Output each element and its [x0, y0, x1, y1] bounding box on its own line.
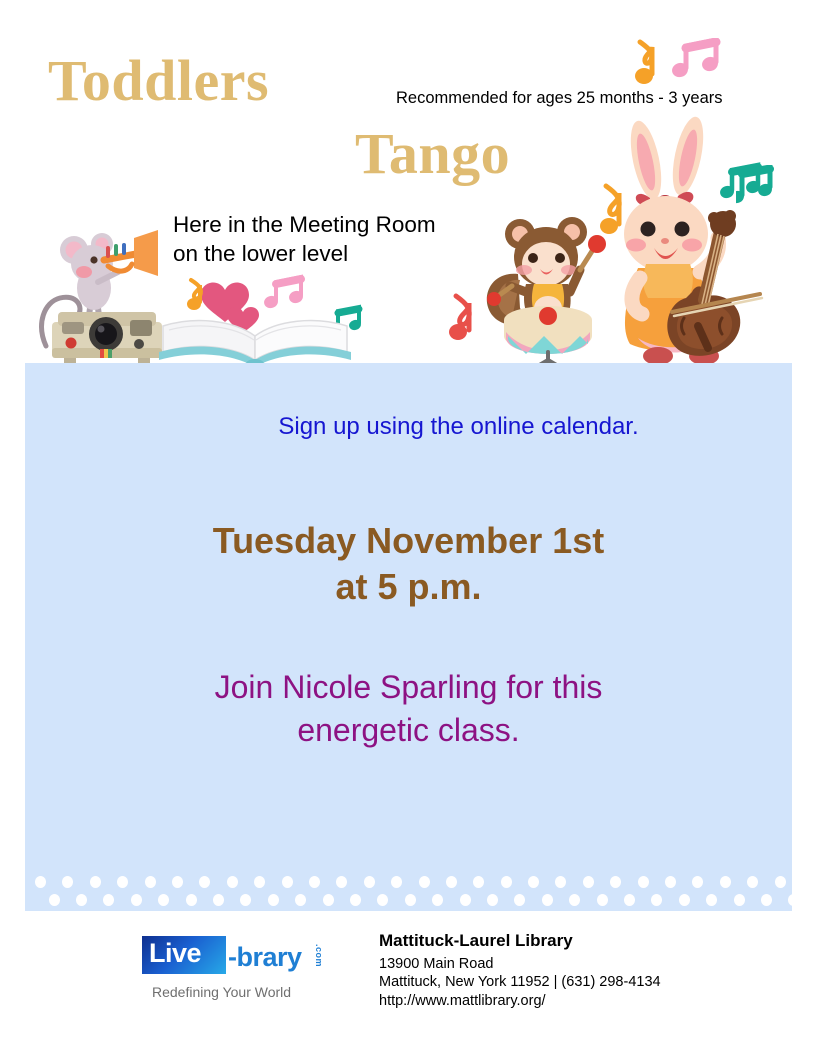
event-date-time: Tuesday November 1st at 5 p.m. [25, 518, 792, 610]
eighth-note-red-loose-icon [442, 292, 482, 342]
decorative-dot [268, 894, 279, 906]
decorative-dot [720, 876, 731, 888]
eighth-note-orange-icon [635, 42, 653, 84]
decorative-dot [227, 876, 238, 888]
presenter-description: Join Nicole Sparling for this energetic … [25, 666, 792, 751]
decorative-dot [583, 876, 594, 888]
library-address-lines: 13900 Main Road Mattituck, New York 1195… [379, 955, 661, 1010]
dot-decoration-row-1 [25, 876, 792, 888]
decorative-dot [323, 894, 334, 906]
decorative-dot [62, 876, 73, 888]
decorative-dot [473, 876, 484, 888]
decorative-dot [761, 894, 772, 906]
music-notes-decoration [626, 38, 736, 100]
decorative-dot [145, 876, 156, 888]
flyer-title-line2: Tango [355, 125, 510, 183]
library-contact-block: Mattituck-Laurel Library 13900 Main Road… [379, 931, 661, 1010]
decorative-dot [419, 876, 430, 888]
eighth-note-orange-small-icon [187, 280, 201, 310]
decorative-dot [624, 894, 635, 906]
decorative-dot [651, 894, 662, 906]
decorative-dot [336, 876, 347, 888]
dot-decoration-row-2 [25, 894, 792, 906]
decorative-dot [555, 876, 566, 888]
open-book-with-hearts-illustration [155, 268, 370, 368]
decorative-dot [501, 876, 512, 888]
decorative-dot [172, 876, 183, 888]
eighth-note-teal-loose-icon [736, 165, 780, 213]
decorative-dot [665, 876, 676, 888]
livebrary-logo-brary-text: -brary [228, 944, 302, 971]
livebrary-logo-live-text: Live [149, 940, 201, 967]
decorative-dot [446, 876, 457, 888]
decorative-dot [309, 876, 320, 888]
rabbit-with-cello-illustration [612, 112, 767, 364]
decorative-dot [692, 876, 703, 888]
decorative-dot [788, 894, 792, 906]
decorative-dot [542, 894, 553, 906]
decorative-dot [186, 894, 197, 906]
decorative-dot [254, 876, 265, 888]
decorative-dot [734, 894, 745, 906]
decorative-dot [240, 894, 251, 906]
decorative-dot [213, 894, 224, 906]
decorative-dot [131, 894, 142, 906]
flyer-page: Toddlers Tango Recommended for ages 25 m… [0, 0, 816, 1056]
decorative-dot [747, 876, 758, 888]
info-panel: Sign up using the online calendar. Tuesd… [25, 363, 792, 911]
decorative-dot [158, 894, 169, 906]
livebrary-logo[interactable]: Live -brary .com Redefining Your World [142, 932, 332, 1008]
decorative-dot [514, 894, 525, 906]
decorative-dot [49, 894, 60, 906]
decorative-dot [377, 894, 388, 906]
decorative-dot [76, 894, 87, 906]
location-note: Here in the Meeting Room on the lower le… [173, 210, 436, 269]
decorative-dot [405, 894, 416, 906]
eighth-note-orange-loose-icon [594, 180, 628, 236]
decorative-dot [103, 894, 114, 906]
decorative-dot [90, 876, 101, 888]
decorative-dot [679, 894, 690, 906]
decorative-dot [775, 876, 786, 888]
decorative-dot [597, 894, 608, 906]
beamed-notes-pink-icon [670, 40, 719, 79]
livebrary-logo-tagline: Redefining Your World [152, 984, 291, 1000]
livebrary-logo-com-text: .com [314, 944, 324, 967]
decorative-dot [706, 894, 717, 906]
flyer-title-line1: Toddlers [48, 52, 269, 110]
decorative-dot [610, 876, 621, 888]
beamed-notes-pink-small-icon [263, 277, 305, 310]
livebrary-logo-mark: Live -brary .com [142, 932, 324, 980]
library-name: Mattituck-Laurel Library [379, 931, 661, 951]
decorative-dot [487, 894, 498, 906]
decorative-dot [295, 894, 306, 906]
decorative-dot [350, 894, 361, 906]
signup-instruction: Sign up using the online calendar. [25, 413, 792, 441]
decorative-dot [460, 894, 471, 906]
decorative-dot [638, 876, 649, 888]
decorative-dot [569, 894, 580, 906]
decorative-dot [364, 876, 375, 888]
decorative-dot [528, 876, 539, 888]
decorative-dot [282, 876, 293, 888]
decorative-dot [432, 894, 443, 906]
decorative-dot [35, 876, 46, 888]
decorative-dot [117, 876, 128, 888]
decorative-dot [199, 876, 210, 888]
decorative-dot [391, 876, 402, 888]
